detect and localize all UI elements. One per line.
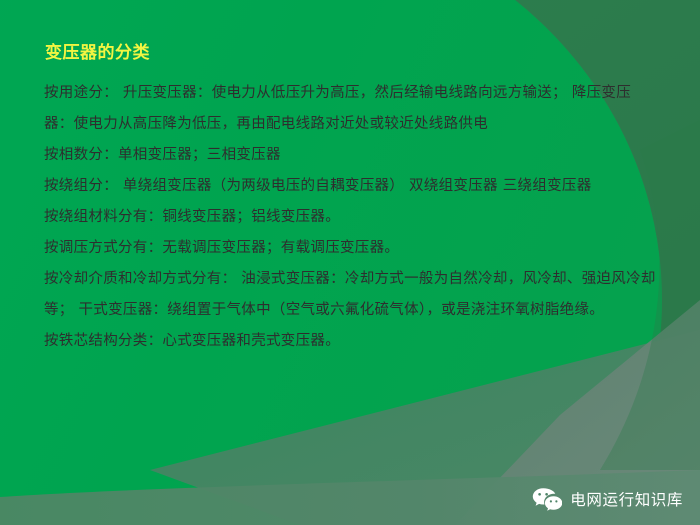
body-text-block: 按用途分： 升压变压器：使电力从低压升为高压，然后经输电线路向远方输送； 降压变… [44,78,659,357]
page-title: 变压器的分类 [45,43,150,63]
watermark: 电网运行知识库 [532,487,683,513]
wechat-icon [532,487,562,513]
paragraph-winding-material: 按绕组材料分有：铜线变压器；铝线变压器。 [44,202,659,233]
paragraph-usage: 按用途分： 升压变压器：使电力从低压升为高压，然后经输电线路向远方输送； 降压变… [44,78,659,140]
watermark-label: 电网运行知识库 [570,491,683,509]
paragraph-voltage-regulation: 按调压方式分有：无载调压变压器；有载调压变压器。 [44,233,659,264]
paragraph-core-structure: 按铁芯结构分类：心式变压器和壳式变压器。 [44,326,659,357]
slide-content: 变压器的分类 按用途分： 升压变压器：使电力从低压升为高压，然后经输电线路向远方… [0,0,700,525]
paragraph-cooling-method: 按冷却介质和冷却方式分有： 油浸式变压器：冷却方式一般为自然冷却，风冷却、强迫风… [44,264,659,326]
paragraph-phase-count: 按相数分：单相变压器；三相变压器 [44,140,659,171]
paragraph-winding-group: 按绕组分： 单绕组变压器（为两级电压的自耦变压器） 双绕组变压器 三绕组变压器 [44,171,659,202]
slide-canvas: 变压器的分类 按用途分： 升压变压器：使电力从低压升为高压，然后经输电线路向远方… [0,0,700,525]
